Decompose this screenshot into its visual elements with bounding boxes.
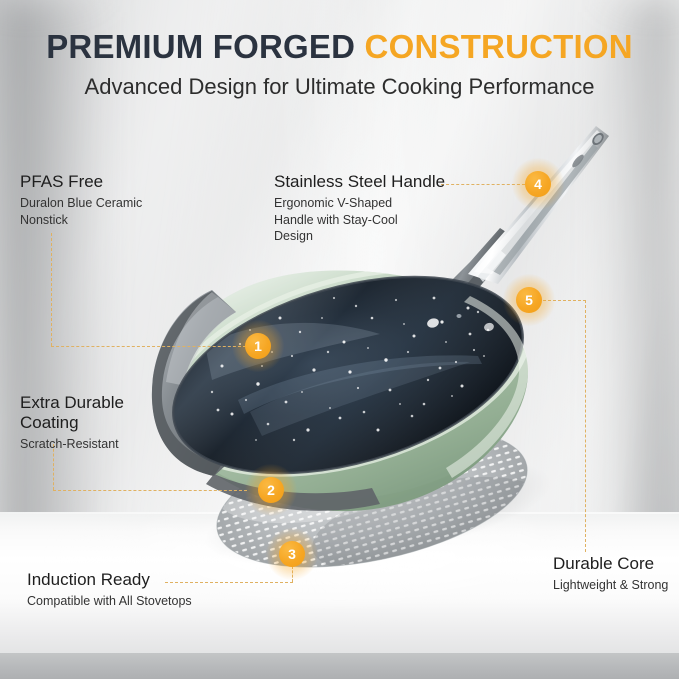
badge-1-label: 1 (254, 339, 262, 353)
callout-1-title: PFAS Free (20, 172, 240, 192)
callout-1-subtitle: Duralon Blue Ceramic Nonstick (20, 195, 240, 228)
title-accent: CONSTRUCTION (365, 28, 633, 65)
callout-3-subtitle: Compatible with All Stovetops (27, 593, 307, 610)
callout-induction-ready: Induction Ready Compatible with All Stov… (27, 570, 307, 610)
callout-5-subtitle: Lightweight & Strong (553, 577, 679, 594)
badge-4-label: 4 (534, 177, 542, 191)
callout-2-subtitle: Scratch-Resistant (20, 436, 240, 453)
badge-5-label: 5 (525, 293, 533, 307)
badge-3[interactable]: 3 (279, 541, 305, 567)
callout-5-title: Durable Core (553, 554, 679, 574)
callout-2-title: Extra Durable Coating (20, 393, 240, 433)
callout-3-title: Induction Ready (27, 570, 307, 590)
badge-3-label: 3 (288, 547, 296, 561)
callout-4-subtitle: Ergonomic V-Shaped Handle with Stay-Cool… (274, 195, 504, 245)
badge-1[interactable]: 1 (245, 333, 271, 359)
page-title: PREMIUM FORGED CONSTRUCTION (0, 28, 679, 66)
counter-edge-highlight (0, 512, 679, 514)
connector-1-vertical (51, 233, 52, 346)
callout-pfas-free: PFAS Free Duralon Blue Ceramic Nonstick (20, 172, 240, 228)
badge-4[interactable]: 4 (525, 171, 551, 197)
badge-2[interactable]: 2 (258, 477, 284, 503)
callout-extra-durable-coating: Extra Durable Coating Scratch-Resistant (20, 393, 240, 453)
connector-1-horizontal (51, 346, 246, 347)
callout-4-title: Stainless Steel Handle (274, 172, 504, 192)
title-primary: PREMIUM FORGED (46, 28, 355, 65)
badge-5[interactable]: 5 (516, 287, 542, 313)
callout-stainless-steel-handle: Stainless Steel Handle Ergonomic V-Shape… (274, 172, 504, 245)
badge-2-label: 2 (267, 483, 275, 497)
infographic-scene: PREMIUM FORGED CONSTRUCTION Advanced Des… (0, 0, 679, 679)
page-subtitle: Advanced Design for Ultimate Cooking Per… (0, 74, 679, 100)
counter-front-band (0, 652, 679, 679)
connector-2-horizontal (53, 490, 247, 491)
callout-durable-core: Durable Core Lightweight & Strong (553, 554, 679, 594)
connector-5-vertical (585, 300, 586, 552)
